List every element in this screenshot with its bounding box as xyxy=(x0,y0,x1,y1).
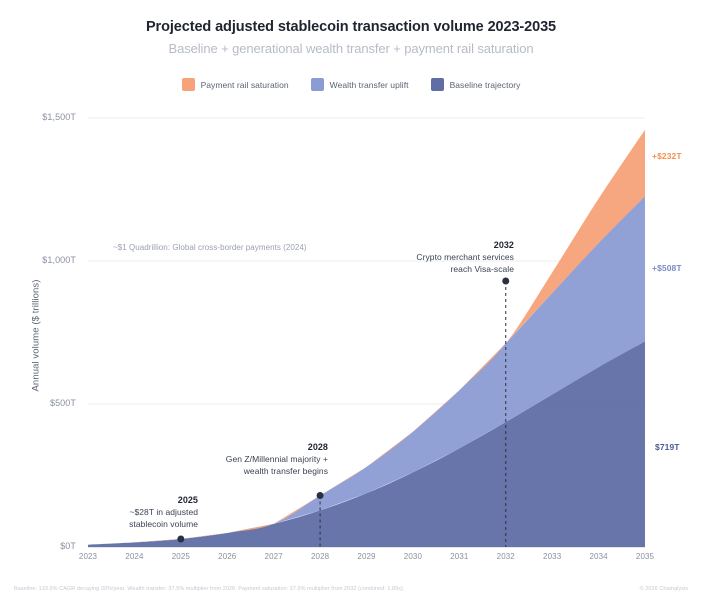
y-tick-label: $1,000T xyxy=(10,255,76,265)
chart-footer: Baseline: 133.5% CAGR decaying 30%/year.… xyxy=(14,586,688,592)
annotation-2032: 2032 Crypto merchant services reach Visa… xyxy=(378,239,514,275)
annotation-2032-year: 2032 xyxy=(378,239,514,251)
x-tick-label: 2025 xyxy=(159,552,203,561)
x-tick-label: 2031 xyxy=(437,552,481,561)
x-tick-label: 2028 xyxy=(298,552,342,561)
annotation-2028-line2: wealth transfer begins xyxy=(244,466,328,476)
annotation-2028: 2028 Gen Z/Millennial majority + wealth … xyxy=(176,441,328,477)
annotation-2025-line1: ~$28T in adjusted xyxy=(129,507,198,517)
annotation-2032-line1: Crypto merchant services xyxy=(416,252,514,262)
x-tick-label: 2023 xyxy=(66,552,110,561)
edge-label-payment-rail: +$232T xyxy=(652,151,682,161)
x-tick-label: 2030 xyxy=(391,552,435,561)
annotation-2025-year: 2025 xyxy=(70,494,198,506)
annotation-2028-year: 2028 xyxy=(176,441,328,453)
x-tick-label: 2027 xyxy=(252,552,296,561)
edge-label-baseline: $719T xyxy=(655,442,680,452)
y-tick-label: $0T xyxy=(10,541,76,551)
annotation-quadrillion: ~$1 Quadrillion: Global cross-border pay… xyxy=(113,243,307,252)
annotation-2025: 2025 ~$28T in adjusted stablecoin volume xyxy=(70,494,198,530)
copyright-text: © 2026 Chainalysis xyxy=(640,586,688,592)
x-tick-label: 2035 xyxy=(623,552,667,561)
chart-page: Projected adjusted stablecoin transactio… xyxy=(0,0,702,600)
marker-dot xyxy=(177,535,184,542)
x-tick-label: 2032 xyxy=(484,552,528,561)
x-tick-label: 2033 xyxy=(530,552,574,561)
annotation-2025-line2: stablecoin volume xyxy=(129,519,198,529)
x-tick-label: 2024 xyxy=(112,552,156,561)
edge-label-wealth-transfer: +$508T xyxy=(652,263,682,273)
y-axis-label: Annual volume ($ trillions) xyxy=(31,256,42,416)
x-tick-label: 2034 xyxy=(577,552,621,561)
stacked-areas xyxy=(88,130,645,547)
annotation-2032-line2: reach Visa-scale xyxy=(451,264,514,274)
marker-dot xyxy=(502,278,509,285)
marker-dot xyxy=(317,492,324,499)
plot-area: Annual volume ($ trillions) $0T$500T$1,0… xyxy=(0,0,702,600)
y-tick-label: $500T xyxy=(10,398,76,408)
x-tick-label: 2029 xyxy=(345,552,389,561)
annotation-2028-line1: Gen Z/Millennial majority + xyxy=(226,454,328,464)
y-tick-label: $1,500T xyxy=(10,112,76,122)
x-tick-label: 2026 xyxy=(205,552,249,561)
footnote-text: Baseline: 133.5% CAGR decaying 30%/year.… xyxy=(14,586,405,592)
